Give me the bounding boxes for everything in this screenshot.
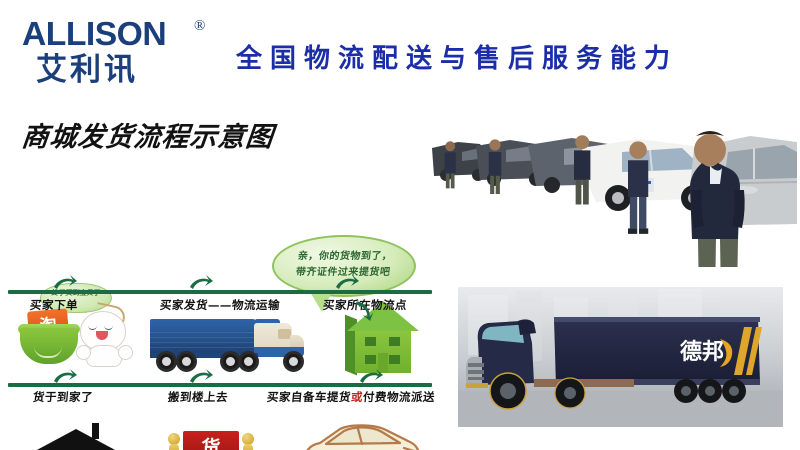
- flow-caption-row1-1: 买家下单: [29, 297, 78, 313]
- cargo-crate-icon: 货: [183, 431, 239, 450]
- truck-wheel: [283, 351, 304, 372]
- flow-divider-row1: [8, 290, 432, 294]
- flow-caption-row2-3-tail: 付费物流派送: [362, 390, 435, 404]
- cartoon-arm-left: [76, 345, 91, 360]
- truck-wheel: [238, 351, 259, 372]
- house-window: [389, 355, 400, 364]
- flow-caption-row2-3-main: 买家自备车提货: [266, 390, 351, 404]
- flow-caption-row2-1: 货于到家了: [32, 389, 93, 405]
- home-roof: [35, 429, 117, 450]
- carrier-person-right: [239, 433, 257, 450]
- registered-trademark-icon: ®: [194, 18, 205, 35]
- delivery-truck-icon: [150, 317, 310, 375]
- house-window: [389, 337, 400, 346]
- logo-chinese-text: 艾利讯: [22, 53, 222, 87]
- flow-caption-row2-2: 搬到楼上去: [167, 389, 228, 405]
- flow-arrow-icon: [188, 273, 214, 291]
- house-window: [365, 337, 376, 346]
- flow-caption-row1-2: 买家发货——物流运输: [159, 297, 280, 313]
- service-fleet-photo: [432, 112, 797, 267]
- bubble-line-1: 亲，你的货物到了，: [297, 251, 393, 262]
- shipping-flow-diagram: 商城发货流程示意图 终于买到宝贝了 淘 亲，你的货物到了，: [0, 105, 440, 425]
- flow-arrow-icon: [52, 273, 78, 291]
- flow-arrow-icon: [334, 273, 360, 291]
- cartoon-body: [86, 345, 122, 367]
- shopping-basket-icon: 淘: [18, 310, 80, 368]
- crate-char: 货: [183, 433, 239, 450]
- slide-root: ALLISON ® 艾利讯 全国物流配送与售后服务能力 商城发货流程示意图 终于…: [0, 0, 800, 450]
- carrier-person-left: [165, 433, 183, 450]
- cartoon-arm-right: [118, 345, 133, 360]
- flow-caption-row2-3: 买家自备车提货或付费物流派送: [266, 389, 435, 405]
- logistics-truck-photo: 德邦: [458, 287, 783, 427]
- truck-brand-text: 德邦: [680, 339, 724, 365]
- cartoon-buyer-icon: [76, 305, 132, 367]
- truck-trailer: [150, 319, 255, 355]
- flow-divider-row2: [8, 383, 432, 387]
- page-title: 全国物流配送与售后服务能力: [236, 38, 756, 75]
- company-logo: ALLISON ® 艾利讯: [22, 16, 222, 90]
- buyer-car-icon: [300, 417, 425, 450]
- diagram-title: 商城发货流程示意图: [20, 115, 276, 154]
- buyer-home-icon: [35, 423, 117, 450]
- truck-wheel: [156, 351, 177, 372]
- house-window: [365, 355, 376, 364]
- carriers-icon: 货: [165, 425, 257, 450]
